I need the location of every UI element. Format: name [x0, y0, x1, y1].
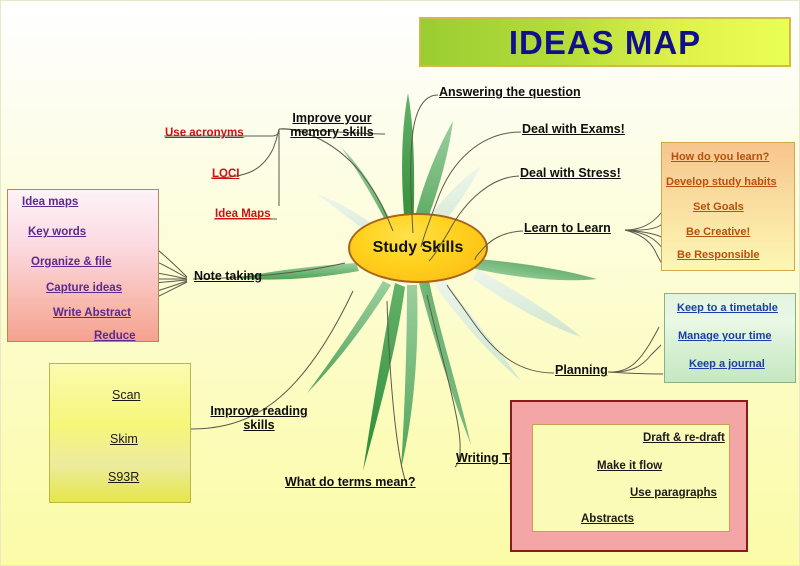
- learn-item-set-goals[interactable]: Set Goals: [693, 201, 744, 213]
- note-taking-item-key-words[interactable]: Key words: [28, 226, 86, 238]
- branch-label-answering-question[interactable]: Answering the question: [439, 85, 581, 99]
- branch-label-memory-line2: memory skills: [290, 125, 373, 139]
- note-taking-item-reduce[interactable]: Reduce: [94, 330, 136, 342]
- reading-item-skim[interactable]: Skim: [110, 432, 138, 446]
- learn-item-how-do-you-learn[interactable]: How do you learn?: [671, 151, 769, 163]
- sub-label-loci[interactable]: LOCI: [212, 168, 239, 180]
- writing-item-use-paragraphs[interactable]: Use paragraphs: [630, 487, 717, 499]
- branch-label-reading-line1: Improve reading: [210, 404, 307, 418]
- reading-item-s93r[interactable]: S93R: [108, 470, 139, 484]
- title-banner: IDEAS MAP: [419, 17, 791, 67]
- sub-label-idea-maps[interactable]: Idea Maps: [215, 208, 271, 220]
- branch-label-memory-line1: Improve your: [292, 111, 371, 125]
- reading-skills-box: Scan Skim S93R: [49, 363, 191, 503]
- writing-tools-frame: Draft & re-draft Make it flow Use paragr…: [510, 400, 748, 552]
- planning-item-manage-your-time[interactable]: Manage your time: [678, 330, 772, 342]
- note-taking-item-write-abstract[interactable]: Write Abstract: [53, 307, 131, 319]
- learn-to-learn-box: How do you learn? Develop study habits S…: [661, 142, 795, 271]
- branch-label-writing[interactable]: Writing To: [456, 451, 510, 465]
- central-node-study-skills[interactable]: Study Skills: [348, 213, 488, 283]
- branch-label-deal-with-exams[interactable]: Deal with Exams!: [522, 122, 625, 136]
- writing-item-abstracts[interactable]: Abstracts: [581, 513, 634, 525]
- writing-item-draft-redraft[interactable]: Draft & re-draft: [643, 432, 725, 444]
- writing-tools-inner-box: Draft & re-draft Make it flow Use paragr…: [532, 424, 730, 532]
- branch-label-memory-skills[interactable]: Improve your memory skills: [284, 111, 380, 140]
- branch-label-improve-reading[interactable]: Improve reading skills: [199, 404, 319, 433]
- sub-label-use-acronyms[interactable]: Use acronyms: [165, 127, 244, 139]
- note-taking-item-idea-maps[interactable]: Idea maps: [22, 196, 78, 208]
- central-node-label: Study Skills: [373, 239, 464, 257]
- note-taking-item-capture-ideas[interactable]: Capture ideas: [46, 282, 122, 294]
- page-title: IDEAS MAP: [509, 26, 701, 59]
- branch-label-note-taking[interactable]: Note taking: [194, 269, 262, 283]
- learn-item-be-responsible[interactable]: Be Responsible: [677, 249, 760, 261]
- note-taking-box: Idea maps Key words Organize & file Capt…: [7, 189, 159, 342]
- branch-label-terms[interactable]: What do terms mean?: [285, 475, 416, 489]
- reading-item-scan[interactable]: Scan: [112, 388, 141, 402]
- learn-item-develop-study-habits[interactable]: Develop study habits: [666, 176, 777, 188]
- learn-item-be-creative[interactable]: Be Creative!: [686, 226, 750, 238]
- note-taking-item-organize-file[interactable]: Organize & file: [31, 256, 112, 268]
- branch-label-deal-with-stress[interactable]: Deal with Stress!: [520, 166, 621, 180]
- branch-label-reading-line2: skills: [243, 418, 274, 432]
- writing-item-make-it-flow[interactable]: Make it flow: [597, 460, 662, 472]
- branch-label-learn-to-learn[interactable]: Learn to Learn: [524, 221, 611, 235]
- planning-item-keep-timetable[interactable]: Keep to a timetable: [677, 302, 778, 314]
- branch-label-planning[interactable]: Planning: [555, 363, 608, 377]
- planning-box: Keep to a timetable Manage your time Kee…: [664, 293, 796, 383]
- mind-map-canvas: IDEAS MAP Study Skills Improve your memo…: [0, 0, 800, 566]
- planning-item-keep-a-journal[interactable]: Keep a journal: [689, 358, 765, 370]
